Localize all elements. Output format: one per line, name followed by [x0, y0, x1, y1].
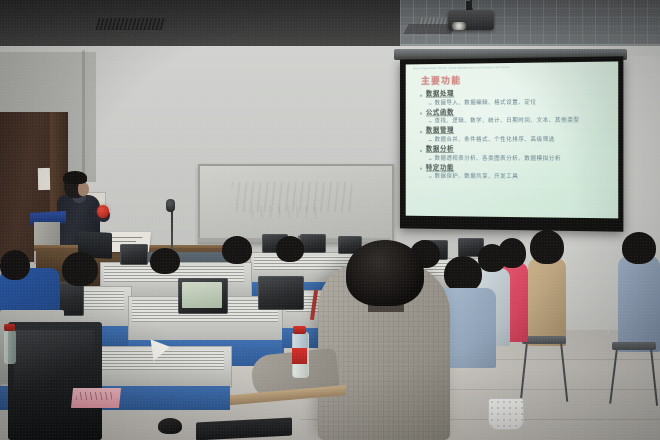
computer-mouse: [158, 418, 182, 434]
presenter-face: [78, 182, 89, 196]
slide-section: 公式函数 查找、逻辑、数学、统计、日期时间、文本、其他类型: [419, 108, 612, 126]
attendee-head: [530, 230, 564, 264]
slide-title: 主要功能: [421, 74, 461, 87]
student-head: [444, 256, 482, 292]
water-bottle-left: [4, 330, 16, 364]
monitor-glare: [14, 330, 94, 390]
note-line: [110, 241, 136, 242]
monitor-screen: [182, 282, 222, 308]
microphone-stand: [171, 205, 173, 253]
white-waste-basket: [488, 398, 524, 430]
student-head: [150, 248, 180, 274]
handwritten-text: [76, 392, 112, 400]
attendee-torso-blue-shirt: [618, 256, 660, 352]
student-head: [222, 236, 252, 264]
attendee-head: [478, 244, 506, 272]
note-line: [110, 237, 142, 238]
presenter-hair: [63, 171, 87, 184]
attendee-head: [622, 232, 656, 264]
slide-bullet-list: 数据处理 数据导入、数据编辑、格式设置、定位 公式函数 查找、逻辑、数学、统计、…: [419, 89, 612, 184]
handheld-red-object: [97, 205, 109, 218]
slide-section-detail: 数据导入、数据编辑、格式设置、定位: [419, 98, 612, 108]
slide-surface: Excel Application Series | Data Manageme…: [406, 61, 619, 218]
slide-section: 特定功能 数据保护、数据共享、开发工具: [419, 164, 612, 182]
classroom-photo: Excel Application Series | Data Manageme…: [0, 0, 660, 440]
slide-section: 数据分析 数据透视表分析、各类图表分析、数据模拟分析: [419, 146, 612, 163]
attendee-head-foreground: [346, 240, 424, 306]
student-head: [62, 252, 98, 286]
whiteboard: [198, 164, 394, 244]
bottle-label: [292, 348, 307, 364]
projector-lens-icon: [452, 22, 466, 30]
slide-section-heading: 数据分析: [419, 146, 612, 155]
monitor: [258, 276, 304, 310]
microphone-icon: [166, 199, 175, 212]
attendee-torso-tan-jacket: [528, 258, 566, 346]
ceiling-vent-icon: [95, 18, 166, 30]
whiteboard-erased-marks: [252, 206, 322, 218]
monitor: [120, 244, 148, 265]
bottle-cap: [293, 326, 306, 334]
student-head: [0, 250, 30, 280]
posted-paper: [38, 168, 50, 190]
folded-paper-tent: [151, 337, 172, 361]
student-head: [276, 236, 304, 262]
slide-section-detail: 数据透视表分析、各类图表分析、数据模拟分析: [419, 154, 612, 163]
slide-section-heading: 数据管理: [419, 127, 612, 136]
slide-section-detail: 数据保护、数据共享、开发工具: [419, 173, 612, 182]
slide-section: 数据管理 数据合并、条件格式、个性化排序、高级筛选: [419, 127, 612, 144]
basket-pattern: [489, 399, 523, 429]
slide-section: 数据处理 数据导入、数据编辑、格式设置、定位: [419, 89, 612, 107]
slide-section-detail: 数据合并、条件格式、个性化排序、高级筛选: [419, 136, 612, 144]
slide-section-detail: 查找、逻辑、数学、统计、日期时间、文本、其他类型: [419, 117, 612, 126]
projection-screen: Excel Application Series | Data Manageme…: [400, 56, 623, 231]
bottle-cap-left: [4, 324, 15, 331]
